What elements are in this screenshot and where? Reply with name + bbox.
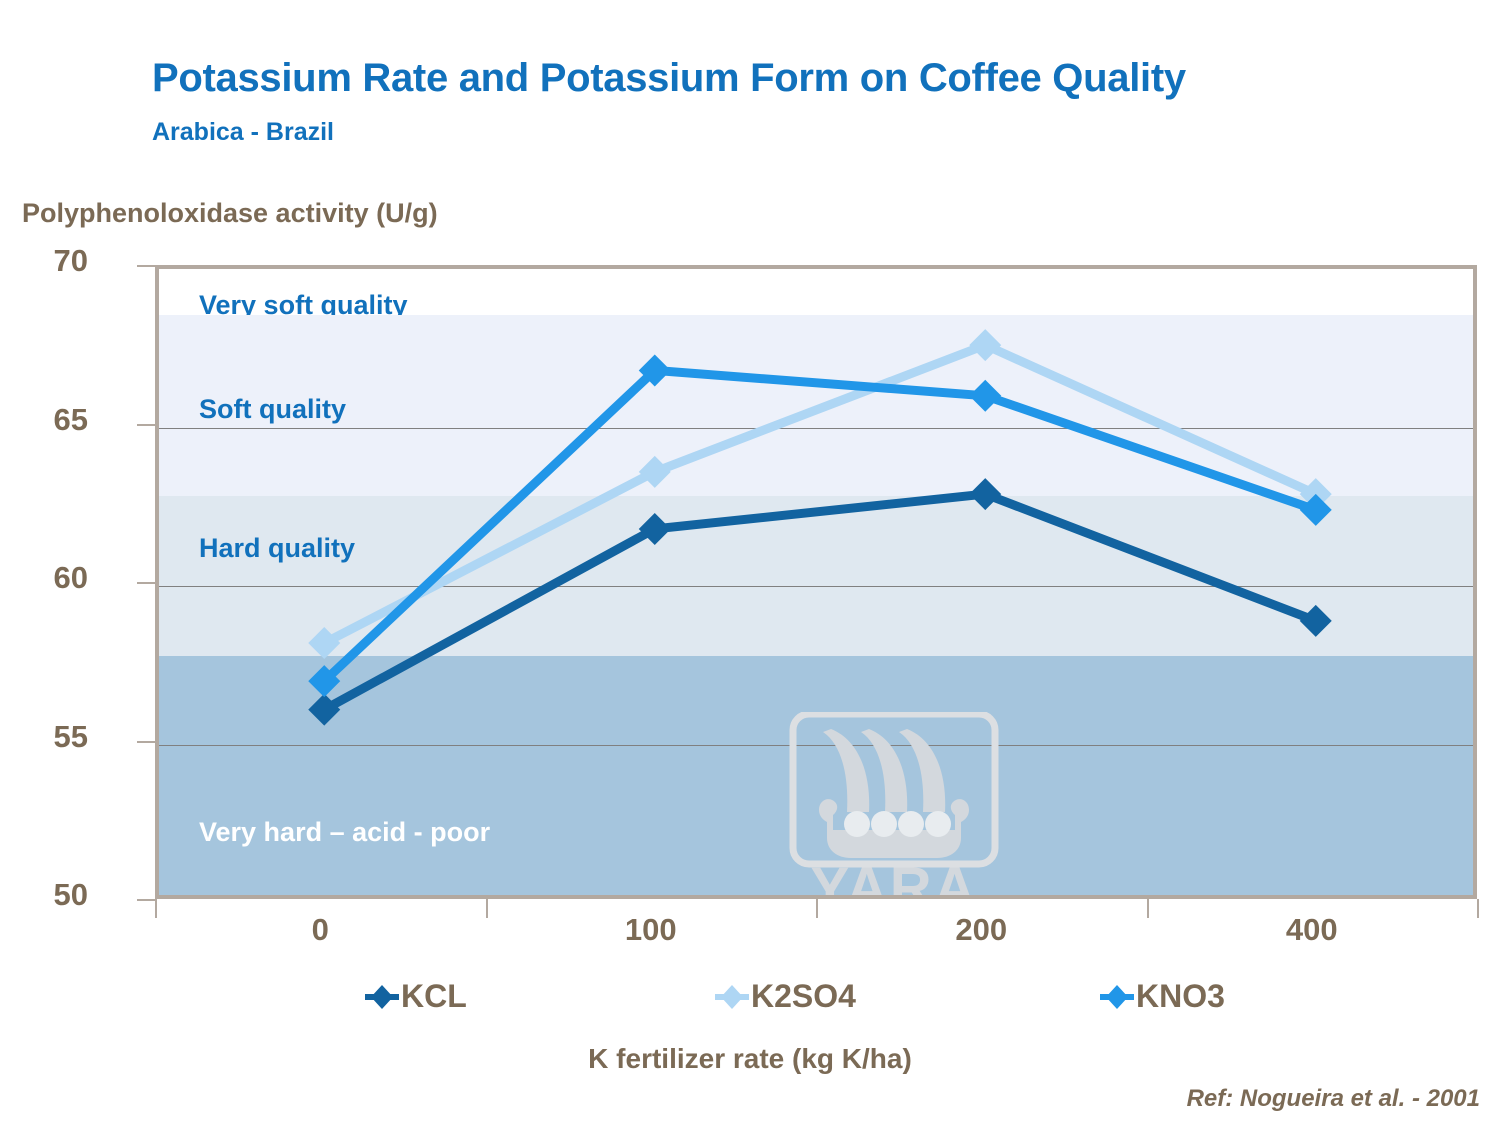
y-tick-mark-60 bbox=[137, 582, 155, 584]
y-tick-mark-65 bbox=[137, 424, 155, 426]
reference-note: Ref: Nogueira et al. - 2001 bbox=[1187, 1085, 1480, 1113]
series-line-kcl bbox=[324, 494, 1316, 710]
legend-marker-k2so4-icon bbox=[715, 983, 749, 1011]
y-tick-label-50: 50 bbox=[0, 877, 88, 913]
x-tick-mark-4 bbox=[1477, 899, 1479, 918]
y-tick-mark-50 bbox=[137, 899, 155, 901]
page-subtitle: Arabica - Brazil bbox=[152, 118, 334, 147]
legend-marker-kcl-icon bbox=[365, 983, 399, 1011]
y-axis-title: Polyphenoloxidase activity (U/g) bbox=[22, 198, 438, 229]
series-k2so4 bbox=[308, 329, 1332, 659]
legend: KCLK2SO4KNO3 bbox=[155, 978, 1477, 1026]
x-tick-label-200: 200 bbox=[921, 912, 1041, 948]
data-point-kcl-400 bbox=[1300, 605, 1332, 637]
plot-inner: Very soft qualitySoft qualityHard qualit… bbox=[159, 269, 1473, 895]
legend-label-kcl: KCL bbox=[401, 978, 467, 1015]
y-tick-label-65: 65 bbox=[0, 402, 88, 438]
legend-label-kno3: KNO3 bbox=[1136, 978, 1225, 1015]
legend-label-k2so4: K2SO4 bbox=[751, 978, 856, 1015]
y-tick-mark-55 bbox=[137, 741, 155, 743]
legend-marker-kno3-icon bbox=[1100, 983, 1134, 1011]
y-tick-label-70: 70 bbox=[0, 243, 88, 279]
legend-item-kno3[interactable]: KNO3 bbox=[1100, 978, 1225, 1015]
y-tick-label-60: 60 bbox=[0, 560, 88, 596]
series-line-k2so4 bbox=[324, 345, 1316, 643]
y-tick-mark-70 bbox=[137, 265, 155, 267]
y-tick-label-55: 55 bbox=[0, 719, 88, 755]
legend-item-k2so4[interactable]: K2SO4 bbox=[715, 978, 856, 1015]
data-point-k2so4-100 bbox=[639, 456, 671, 488]
legend-item-kcl[interactable]: KCL bbox=[365, 978, 467, 1015]
x-tick-label-400: 400 bbox=[1252, 912, 1372, 948]
x-tick-mark-2 bbox=[816, 899, 818, 918]
x-tick-label-0: 0 bbox=[260, 912, 380, 948]
x-tick-mark-3 bbox=[1147, 899, 1149, 918]
data-point-k2so4-0 bbox=[308, 627, 340, 659]
page-title: Potassium Rate and Potassium Form on Cof… bbox=[152, 56, 1186, 101]
x-tick-mark-1 bbox=[486, 899, 488, 918]
data-point-kno3-200 bbox=[969, 380, 1001, 412]
data-point-k2so4-200 bbox=[969, 329, 1001, 361]
data-point-kcl-200 bbox=[969, 478, 1001, 510]
series-kcl bbox=[308, 478, 1332, 726]
x-tick-mark-0 bbox=[155, 899, 157, 918]
series-line-kno3 bbox=[324, 370, 1316, 681]
x-axis-title: K fertilizer rate (kg K/ha) bbox=[0, 1043, 1500, 1075]
x-tick-label-100: 100 bbox=[591, 912, 711, 948]
series-group bbox=[159, 269, 1473, 895]
plot-area: Very soft qualitySoft qualityHard qualit… bbox=[155, 265, 1477, 899]
